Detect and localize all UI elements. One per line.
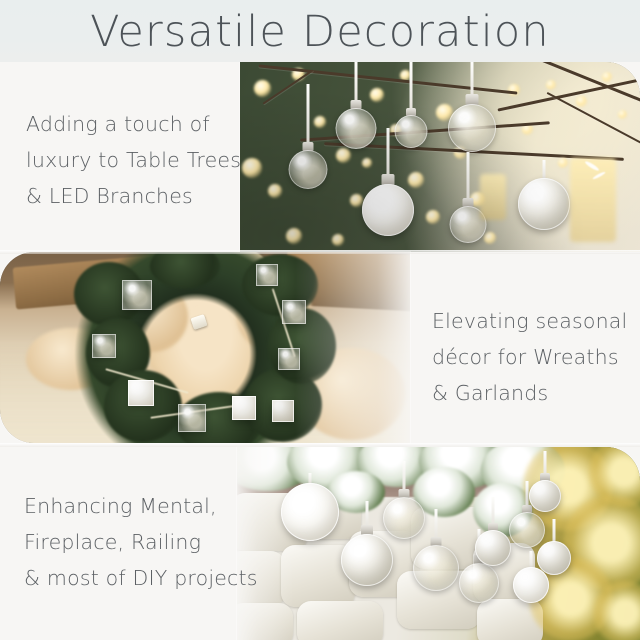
row-divider-2: [0, 443, 640, 447]
section-1-text: Adding a touch of luxury to Table Trees …: [26, 106, 241, 214]
section-2-line-1: Elevating seasonal: [432, 303, 627, 339]
ornaments-on-led-branches-photo: [240, 62, 640, 252]
infographic-page: Versatile Decoration Adding a touch of l…: [0, 0, 640, 640]
stone-mantel-garland-photo: [237, 447, 640, 640]
section-2-line-2: décor for Wreaths: [432, 339, 627, 375]
section-3-line-2: Fireplace, Railing: [24, 524, 258, 560]
row-divider-1: [0, 250, 640, 254]
section-2-text: Elevating seasonal décor for Wreaths & G…: [432, 303, 627, 411]
section-3-text: Enhancing Mental, Fireplace, Railing & m…: [24, 488, 258, 596]
section-1-line-3: & LED Branches: [26, 178, 241, 214]
section-3-line-1: Enhancing Mental,: [24, 488, 258, 524]
section-2-line-3: & Garlands: [432, 375, 627, 411]
section-1-line-1: Adding a touch of: [26, 106, 241, 142]
section-3-line-3: & most of DIY projects: [24, 560, 258, 596]
section-1-line-2: luxury to Table Trees: [26, 142, 241, 178]
header-band: Versatile Decoration: [0, 0, 640, 62]
page-title: Versatile Decoration: [0, 6, 640, 58]
dog-with-wreath-photo: [0, 252, 410, 443]
